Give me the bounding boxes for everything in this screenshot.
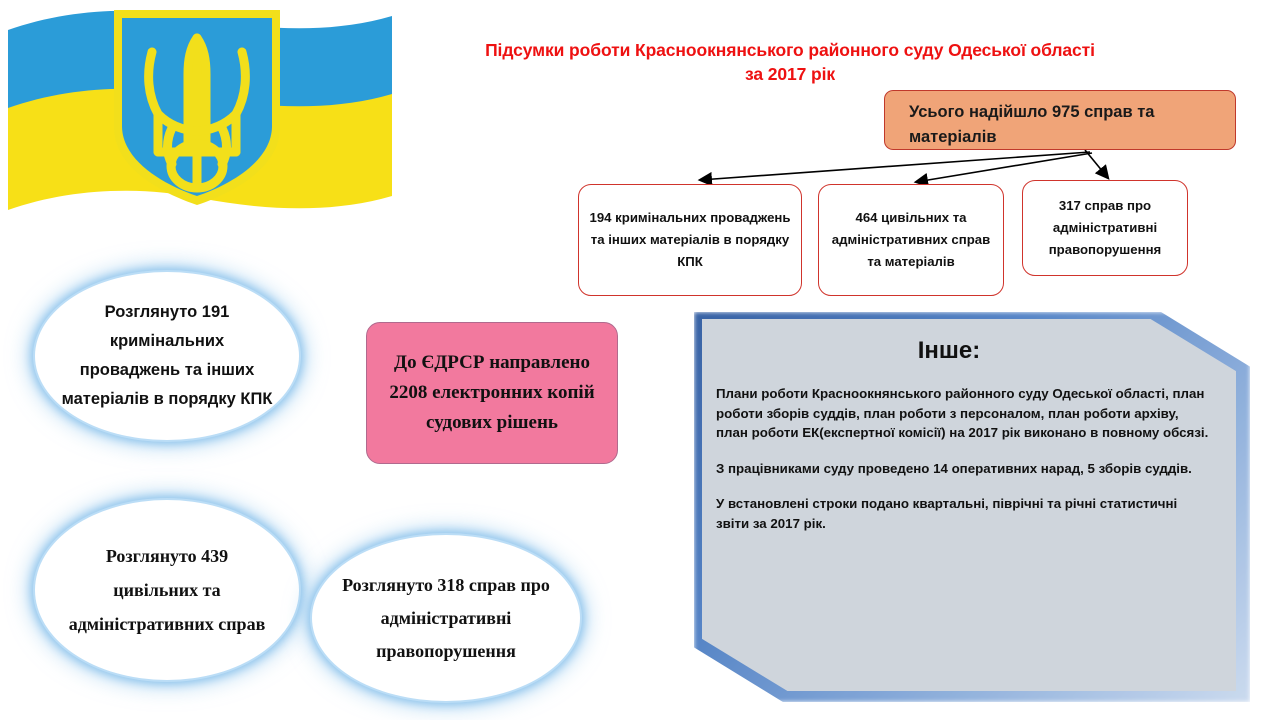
panel-paragraph-plans: Плани роботи Красноокнянського районного… xyxy=(716,384,1222,443)
arrow-to-civil-box xyxy=(916,153,1092,182)
page-title: Підсумки роботи Красноокнянського районн… xyxy=(395,38,1185,86)
breakdown-box-criminal: 194 кримінальних проваджень та інших мат… xyxy=(578,184,802,296)
registry-copies-box: До ЄДРСР направлено 2208 електронних коп… xyxy=(366,322,618,464)
breakdown-box-admin: 317 справ про адміністративні правопоруш… xyxy=(1022,180,1188,276)
arrow-to-criminal-box xyxy=(700,152,1090,180)
total-cases-banner: Усього надійшло 975 справ та матеріалів xyxy=(884,90,1236,150)
ukraine-flag-coat-of-arms xyxy=(0,0,400,212)
page-title-line2: за 2017 рік xyxy=(395,62,1185,86)
page-title-line1: Підсумки роботи Красноокнянського районн… xyxy=(395,38,1185,62)
other-info-panel: Інше: Плани роботи Красноокнянського рай… xyxy=(694,312,1250,702)
panel-paragraph-meetings: З працівниками суду проведено 14 операти… xyxy=(716,459,1222,479)
arrow-to-admin-box xyxy=(1085,150,1108,178)
reviewed-ellipse-civil: Розглянуто 439 цивільних та адміністрати… xyxy=(35,500,299,680)
reviewed-ellipse-criminal: Розглянуто 191 кримінальних проваджень т… xyxy=(35,272,299,440)
reviewed-ellipse-admin: Розглянуто 318 справ про адміністративні… xyxy=(312,535,580,701)
panel-paragraph-reports: У встановлені строки подано квартальні, … xyxy=(716,494,1222,533)
panel-content: Інше: Плани роботи Красноокнянського рай… xyxy=(716,330,1222,674)
breakdown-box-civil: 464 цивільних та адміністративних справ … xyxy=(818,184,1004,296)
infographic-canvas: Підсумки роботи Красноокнянського районн… xyxy=(0,0,1280,720)
panel-heading: Інше: xyxy=(716,336,1222,366)
